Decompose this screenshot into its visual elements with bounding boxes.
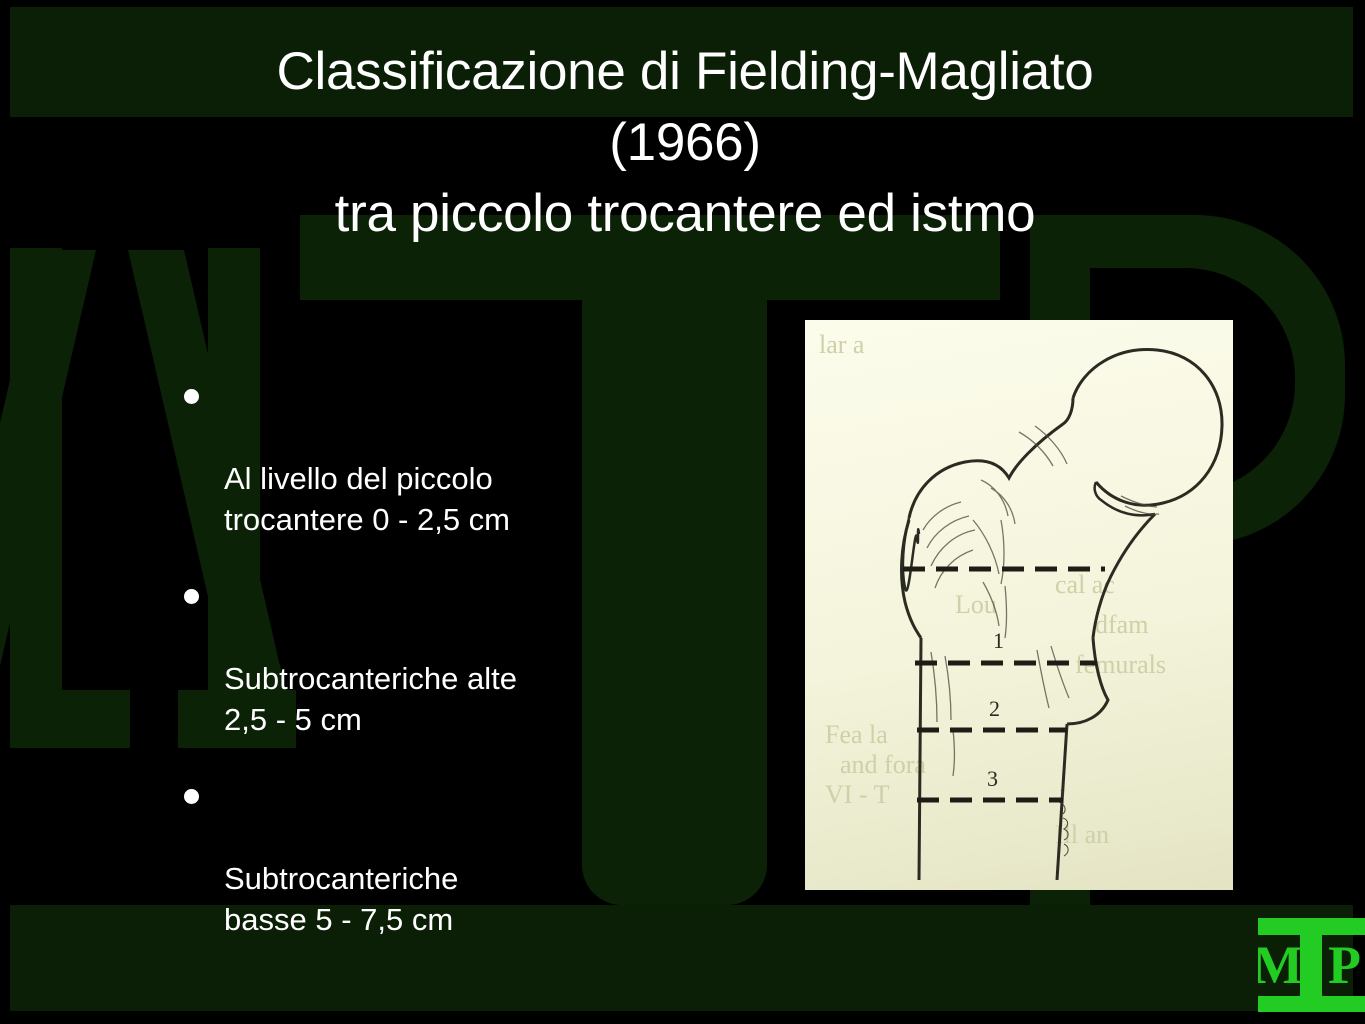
list-item: Subtrocanteriche basse 5 - 7,5 cm (182, 776, 752, 940)
femoral-head-lower-arc (1095, 482, 1155, 515)
femur-illustration: lar a cal ac Lou dfam femurals Fea la an… (805, 320, 1233, 890)
bullet-dot-icon (184, 789, 199, 804)
slide-title: Classificazione di Fielding-Magliato (19… (90, 36, 1280, 249)
list-item: Subtrocanteriche alte 2,5 - 5 cm (182, 576, 752, 740)
list-item-label: Subtrocanteriche basse 5 - 7,5 cm (224, 861, 458, 937)
watermark-letter-m-foot-left (10, 690, 130, 748)
list-item-label: Subtrocanteriche alte 2,5 - 5 cm (224, 661, 517, 737)
mtp-logo: M P (1258, 918, 1365, 1012)
lesser-trochanter-bulge (1067, 638, 1108, 724)
shaft-lateral-cortex (919, 638, 921, 880)
femur-bone-outline-svg (805, 320, 1233, 890)
list-item-label: Al livello del piccolo trocantere 0 - 2,… (224, 461, 510, 537)
list-item: Al livello del piccolo trocantere 0 - 2,… (182, 376, 752, 540)
bullet-dot-icon (184, 389, 199, 404)
trabecular-hatching (923, 426, 1159, 776)
level-label-1: 1 (993, 628, 1004, 654)
level-label-2: 2 (989, 696, 1000, 722)
logo-t-stem (1300, 918, 1322, 1012)
bullet-list: Al livello del piccolo trocantere 0 - 2,… (182, 376, 752, 976)
logo-letter-p: P (1328, 938, 1361, 992)
bullet-dot-icon (184, 589, 199, 604)
presentation-slide: Classificazione di Fielding-Magliato (19… (0, 0, 1365, 1024)
level-label-3: 3 (987, 766, 998, 792)
logo-letter-m: M (1258, 938, 1303, 992)
medial-neck-outline (1093, 514, 1155, 638)
